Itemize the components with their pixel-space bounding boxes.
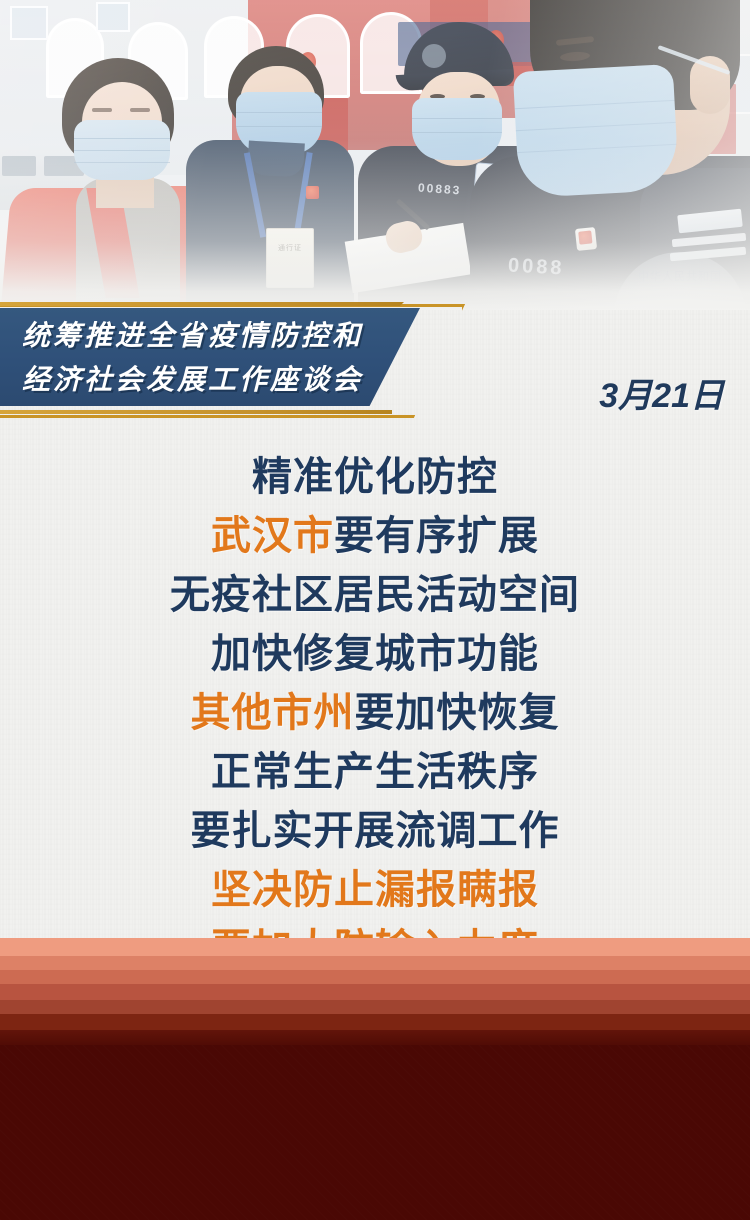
poster-root: 通行证 00883 执勤 bbox=[0, 0, 750, 1220]
headline-text: 精准优化防控 bbox=[252, 455, 498, 499]
bottom-maroon-area bbox=[0, 1045, 750, 1220]
band-5 bbox=[0, 1000, 750, 1014]
band-4 bbox=[0, 984, 750, 1000]
band-2 bbox=[0, 956, 750, 970]
banner-gold-line-top bbox=[0, 302, 404, 306]
title-banner: 统筹推进全省疫情防控和 经济社会发展工作座谈会 bbox=[0, 300, 470, 418]
headline-text: 坚决防止漏报瞒报 bbox=[211, 868, 539, 912]
headline-text: 正常生产生活秩序 bbox=[211, 750, 539, 794]
headline-text: 无疫社区居民活动空间 bbox=[170, 573, 580, 617]
headline-line-1: 精准优化防控 bbox=[0, 448, 750, 507]
headline-line-8: 坚决防止漏报瞒报 bbox=[0, 861, 750, 920]
header-photo: 通行证 00883 执勤 bbox=[0, 0, 750, 310]
headline-list: 精准优化防控 武汉市要有序扩展 无疫社区居民活动空间 加快修复城市功能 其他市州… bbox=[0, 448, 750, 920]
headline-text: 要扎实开展流调工作 bbox=[191, 809, 560, 853]
headline-line-5: 其他市州要加快恢复 bbox=[0, 684, 750, 743]
band-1 bbox=[0, 938, 750, 956]
headline-line-4: 加快修复城市功能 bbox=[0, 625, 750, 684]
headline-line-3: 无疫社区居民活动空间 bbox=[0, 566, 750, 625]
headline-line-2: 武汉市要有序扩展 bbox=[0, 507, 750, 566]
banner-title-block: 统筹推进全省疫情防控和 经济社会发展工作座谈会 bbox=[22, 314, 392, 402]
banner-gold-line-bottom bbox=[0, 410, 392, 414]
banner-title-line-2: 经济社会发展工作座谈会 bbox=[22, 358, 392, 402]
date-label: 3月21日 bbox=[599, 368, 724, 417]
bottom-gradient-bands bbox=[0, 938, 750, 1048]
band-3 bbox=[0, 970, 750, 984]
headline-text: 要加快恢复 bbox=[355, 691, 560, 735]
band-6 bbox=[0, 1014, 750, 1030]
headline-line-7: 要扎实开展流调工作 bbox=[0, 802, 750, 861]
photo-side-fade-overlay bbox=[0, 0, 750, 310]
headline-highlight: 其他市州 bbox=[191, 691, 355, 735]
headline-text: 加快修复城市功能 bbox=[211, 632, 539, 676]
banner-title-line-1: 统筹推进全省疫情防控和 bbox=[22, 314, 392, 358]
headline-highlight: 武汉市 bbox=[211, 514, 334, 558]
headline-line-6: 正常生产生活秩序 bbox=[0, 743, 750, 802]
headline-text: 要有序扩展 bbox=[334, 514, 539, 558]
